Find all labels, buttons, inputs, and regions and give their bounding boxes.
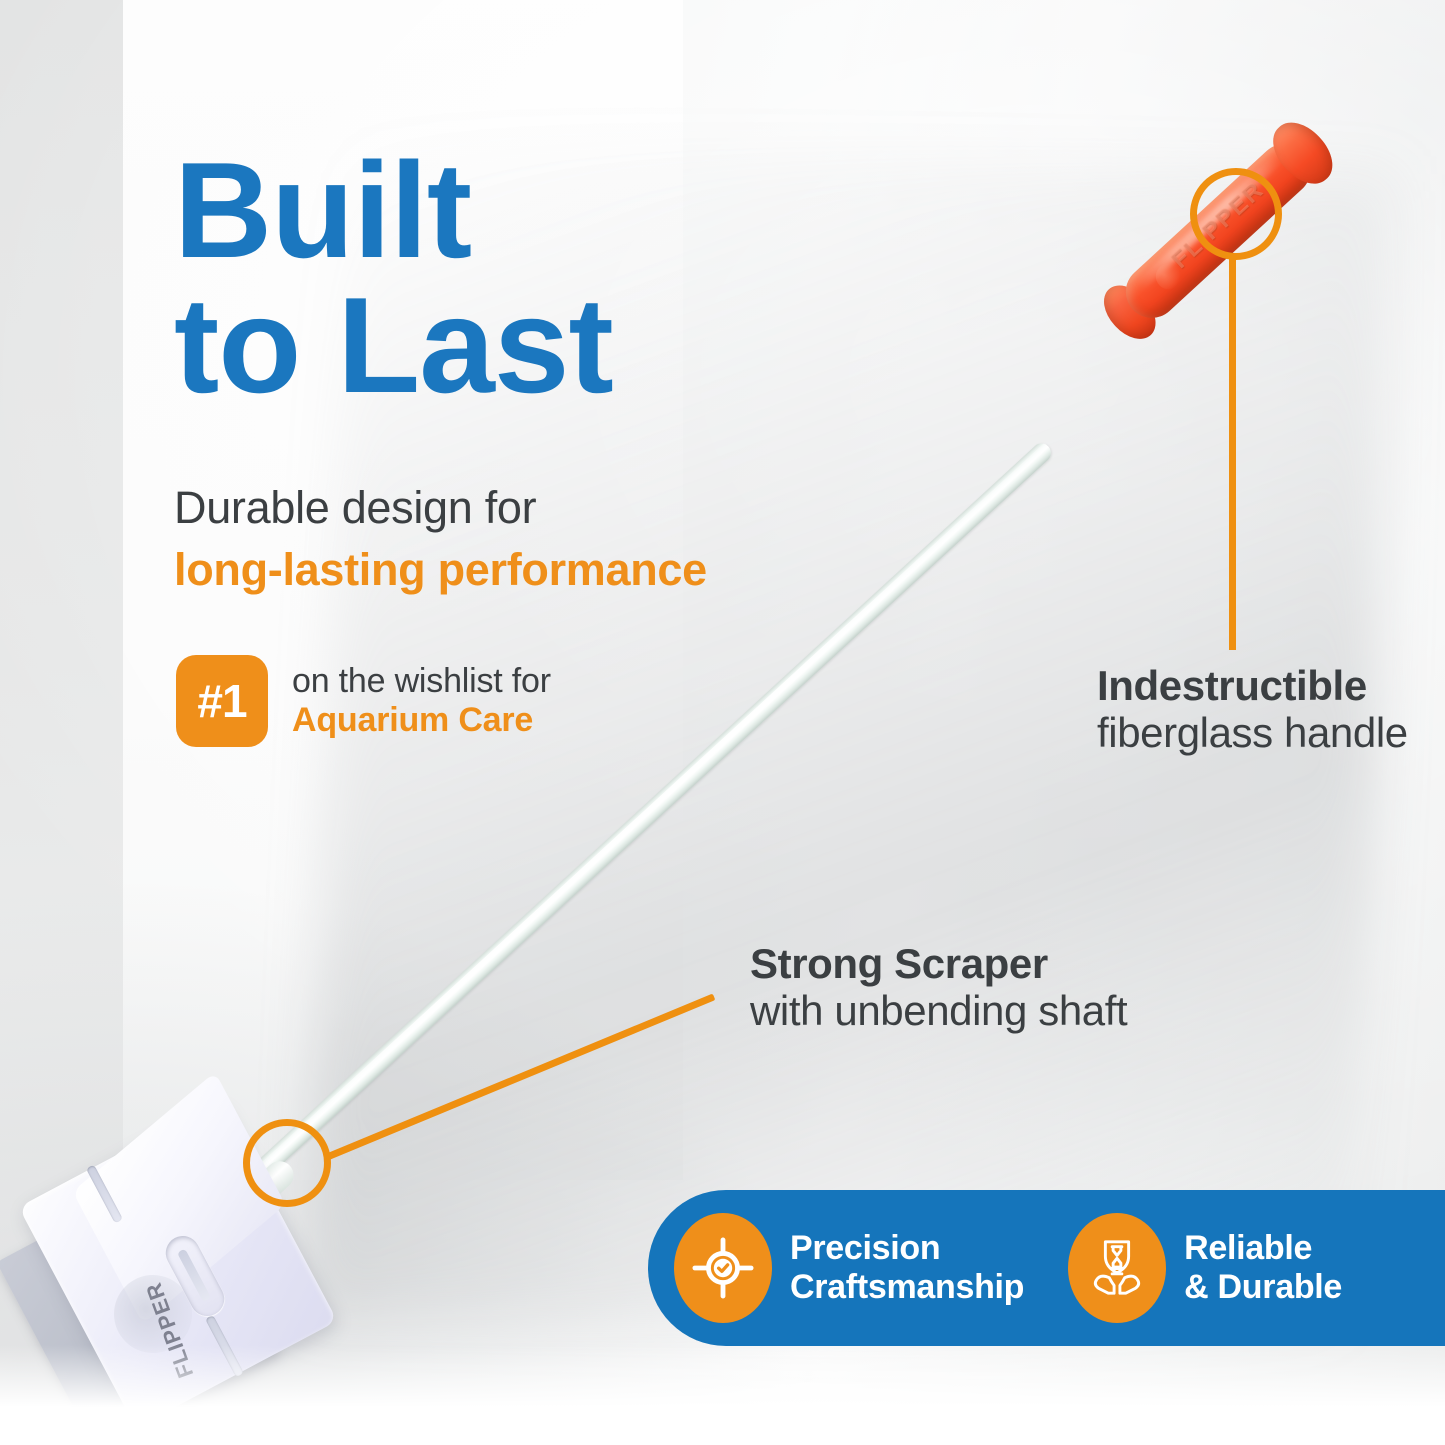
background-bottom-fade bbox=[0, 1345, 1445, 1445]
wishlist-callout: #1 on the wishlist for Aquarium Care bbox=[176, 655, 551, 747]
rank-badge: #1 bbox=[176, 655, 268, 747]
wishlist-text: on the wishlist for Aquarium Care bbox=[292, 662, 551, 741]
feature-banner: Precision Craftsmanship bbox=[648, 1190, 1445, 1346]
feature-reliable-label: Reliable & Durable bbox=[1184, 1229, 1342, 1307]
wishlist-line-1: on the wishlist for bbox=[292, 662, 551, 701]
subheading-line-2: long-lasting performance bbox=[174, 544, 707, 596]
feature-reliable-line-2: & Durable bbox=[1184, 1268, 1342, 1307]
callout-circle-handle bbox=[1190, 168, 1282, 260]
headline-line-2: to Last bbox=[174, 278, 613, 413]
feature-reliable-line-1: Reliable bbox=[1184, 1229, 1342, 1268]
callout-handle: Indestructible fiberglass handle bbox=[1097, 662, 1408, 756]
page-title: Built to Last bbox=[174, 143, 613, 412]
callout-scraper-title: Strong Scraper bbox=[750, 940, 1127, 987]
feature-precision-line-1: Precision bbox=[790, 1229, 1024, 1268]
callout-scraper: Strong Scraper with unbending shaft bbox=[750, 940, 1127, 1034]
hourglass-in-hands-icon bbox=[1068, 1213, 1166, 1323]
target-check-icon bbox=[674, 1213, 772, 1323]
feature-precision-label: Precision Craftsmanship bbox=[790, 1229, 1024, 1307]
callout-handle-subtitle: fiberglass handle bbox=[1097, 709, 1408, 756]
callout-handle-title: Indestructible bbox=[1097, 662, 1408, 709]
callout-scraper-subtitle: with unbending shaft bbox=[750, 987, 1127, 1034]
feature-precision-craftsmanship: Precision Craftsmanship bbox=[674, 1213, 1024, 1323]
callout-circle-scraper bbox=[243, 1119, 331, 1207]
callout-leader-line-handle bbox=[1229, 258, 1236, 650]
wishlist-line-2: Aquarium Care bbox=[292, 701, 551, 740]
marketing-image: FLIPPER FLIPPER Built to Last Durable de… bbox=[0, 0, 1445, 1445]
headline-line-1: Built bbox=[174, 134, 471, 286]
subheading-line-1: Durable design for bbox=[174, 482, 536, 534]
feature-precision-line-2: Craftsmanship bbox=[790, 1268, 1024, 1307]
feature-reliable-durable: Reliable & Durable bbox=[1068, 1213, 1342, 1323]
